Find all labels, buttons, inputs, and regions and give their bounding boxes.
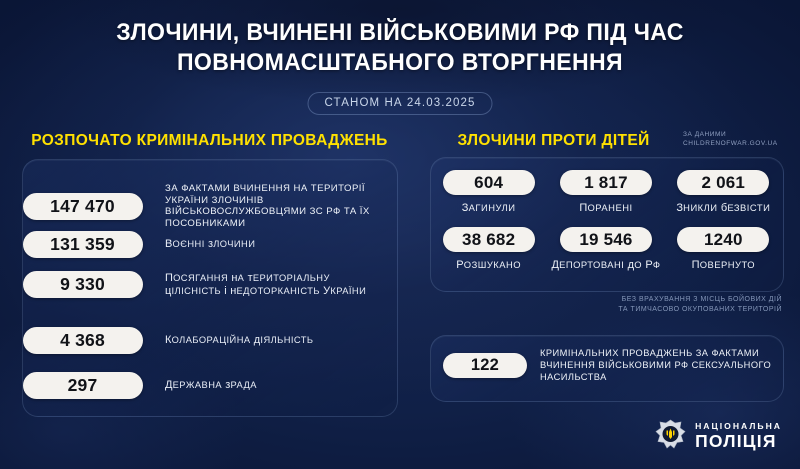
pill-wrap: 4 368 <box>0 327 165 354</box>
logo-text: НАЦІОНАЛЬНА ПОЛІЦІЯ <box>695 422 782 450</box>
page-title: ЗЛОЧИНИ, ВЧИНЕНІ ВІЙСЬКОВИМИ РФ ПІД ЧАС … <box>16 18 784 78</box>
stat-value-pill: 122 <box>443 353 527 378</box>
stat-label: Депортовані до РФ <box>551 259 660 271</box>
footnote-line-2: ТА ТИМЧАСОВО ОКУПОВАНИХ ТЕРИТОРІЙ <box>618 306 782 313</box>
source-line-1: ЗА ДАНИМИ <box>683 131 726 138</box>
stat-label: Колабораційна діяльність <box>165 334 370 347</box>
stat-value-pill: 2 061 <box>677 170 769 195</box>
stat-value-pill: 147 470 <box>23 193 143 220</box>
right-section-heading: ЗЛОЧИНИ ПРОТИ ДІТЕЙ <box>430 132 677 150</box>
stat-cell: 38 682 Розшукано <box>430 227 547 271</box>
title-line-2: ПОВНОМАСШТАБНОГО ВТОРГНЕННЯ <box>16 48 784 78</box>
left-section-heading: РОЗПОЧАТО КРИМІНАЛЬНИХ ПРОВАДЖЕНЬ <box>22 132 397 150</box>
stat-label: Поранені <box>579 202 632 214</box>
infographic-canvas: ЗЛОЧИНИ, ВЧИНЕНІ ВІЙСЬКОВИМИ РФ ПІД ЧАС … <box>0 0 800 469</box>
stat-value-pill: 9 330 <box>23 271 143 298</box>
stat-label: Повернуто <box>692 259 755 271</box>
source-line-2: CHILDRENOFWAR.GOV.UA <box>683 140 778 147</box>
stat-cell: 2 061 Зникли безвісти <box>665 170 782 214</box>
national-police-logo: НАЦІОНАЛЬНА ПОЛІЦІЯ <box>655 419 782 453</box>
pill-wrap: 131 359 <box>0 231 165 258</box>
stat-label: ЗА ФАКТАМИ ВЧИНЕННЯ НА ТЕРИТОРІЇ УКРАЇНИ… <box>165 183 370 229</box>
as-of-date-badge: СТАНОМ НА 24.03.2025 <box>308 92 493 115</box>
stat-label: Державна зрада <box>165 379 370 392</box>
stat-value-pill: 604 <box>443 170 535 195</box>
stat-row: 4 368 Колабораційна діяльність <box>0 327 374 354</box>
stat-row: 147 470 ЗА ФАКТАМИ ВЧИНЕННЯ НА ТЕРИТОРІЇ… <box>0 183 374 229</box>
title-line-1: ЗЛОЧИНИ, ВЧИНЕНІ ВІЙСЬКОВИМИ РФ ПІД ЧАС <box>116 19 684 46</box>
logo-line-2: ПОЛІЦІЯ <box>695 433 782 451</box>
stat-value-pill: 1 817 <box>560 170 652 195</box>
stat-label: Розшукано <box>456 259 521 271</box>
children-stats-row-2: 38 682 Розшукано 19 546 Депортовані до Р… <box>430 227 782 271</box>
pill-wrap: 9 330 <box>0 271 165 298</box>
stat-cell: 604 Загинули <box>430 170 547 214</box>
footnote-line-1: БЕЗ ВРАХУВАННЯ З МІСЦЬ БОЙОВИХ ДІЙ <box>622 296 782 303</box>
stat-row: 297 Державна зрада <box>0 372 374 399</box>
pill-wrap: 122 <box>430 353 540 378</box>
stat-label: Загинули <box>462 202 516 214</box>
stat-row: 9 330 Посягання на територіальну цілісні… <box>0 271 374 298</box>
pill-wrap: 297 <box>0 372 165 399</box>
stat-label: Воєнні злочини <box>165 238 370 251</box>
police-badge-icon <box>655 419 686 453</box>
stat-cell: 19 546 Депортовані до РФ <box>547 227 664 271</box>
stat-cell: 1 817 Поранені <box>547 170 664 214</box>
sexual-violence-row: 122 КРИМІНАЛЬНИХ ПРОВАДЖЕНЬ ЗА ФАКТАМИ В… <box>430 348 782 383</box>
stat-label: Посягання на територіальну цілісність і … <box>165 272 370 298</box>
data-source-note: ЗА ДАНИМИ CHILDRENOFWAR.GOV.UA <box>683 131 778 148</box>
stat-value-pill: 1240 <box>677 227 769 252</box>
stat-label: Зникли безвісти <box>676 202 770 214</box>
stat-value-pill: 19 546 <box>560 227 652 252</box>
stat-value-pill: 297 <box>23 372 143 399</box>
stat-cell: 1240 Повернуто <box>665 227 782 271</box>
pill-wrap: 147 470 <box>0 193 165 220</box>
children-stats-row-1: 604 Загинули 1 817 Поранені 2 061 Зникли… <box>430 170 782 214</box>
stat-row: 131 359 Воєнні злочини <box>0 231 374 258</box>
logo-line-1: НАЦІОНАЛЬНА <box>695 422 782 431</box>
stat-value-pill: 131 359 <box>23 231 143 258</box>
stat-label: КРИМІНАЛЬНИХ ПРОВАДЖЕНЬ ЗА ФАКТАМИ ВЧИНЕ… <box>540 348 780 383</box>
children-footnote: БЕЗ ВРАХУВАННЯ З МІСЦЬ БОЙОВИХ ДІЙ ТА ТИ… <box>618 295 782 314</box>
stat-value-pill: 38 682 <box>443 227 535 252</box>
stat-value-pill: 4 368 <box>23 327 143 354</box>
